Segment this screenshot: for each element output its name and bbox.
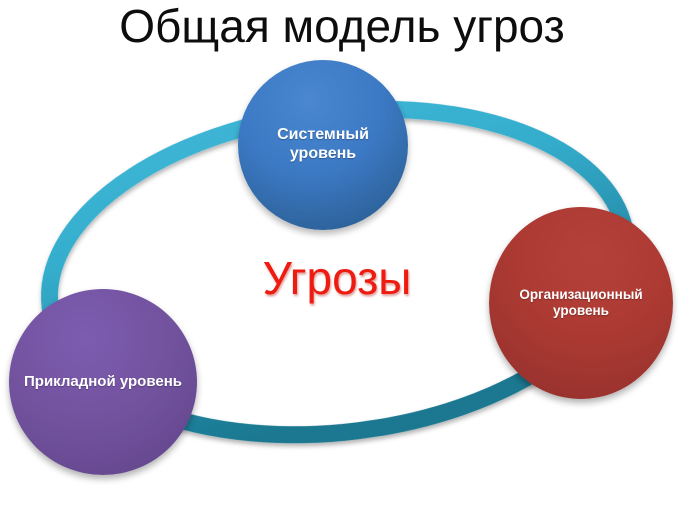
center-label-threats: Угрозы: [232, 252, 442, 304]
node-system-level[interactable]: Системный уровень: [238, 60, 408, 230]
node-organizational-level-label: Организационный уровень: [489, 287, 673, 319]
node-system-level-label: Системный уровень: [238, 126, 408, 164]
diagram-slide: Общая модель угроз Прикладной уровень Си…: [0, 0, 684, 522]
node-organizational-level[interactable]: Организационный уровень: [489, 207, 673, 399]
node-applied-level[interactable]: Прикладной уровень: [9, 289, 197, 475]
node-applied-level-label: Прикладной уровень: [9, 373, 197, 391]
